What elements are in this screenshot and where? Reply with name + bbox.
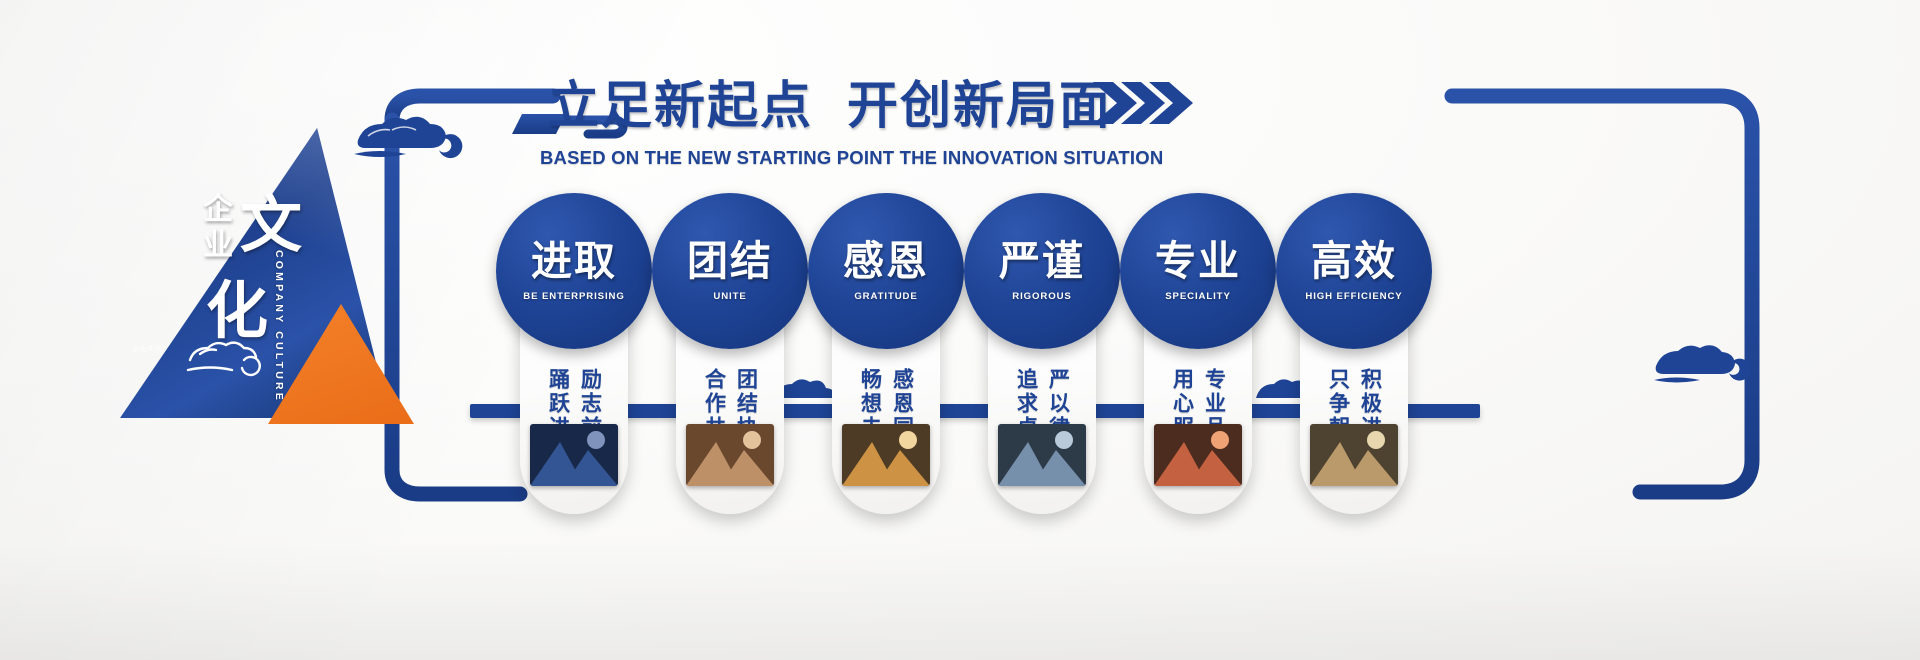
value-card-rigorous[interactable]: 严谨 RIGOROUS 严以律己 追求卓越 xyxy=(988,196,1096,514)
logo-char-wen: 文 xyxy=(240,174,302,264)
value-badge-english: RIGOROUS xyxy=(1012,291,1071,302)
value-badge-english: UNITE xyxy=(713,291,746,302)
value-badge[interactable]: 感恩 GRATITUDE xyxy=(808,193,964,349)
value-badge-english: SPECIALITY xyxy=(1165,291,1231,302)
value-badge-chinese: 感恩 xyxy=(843,241,929,282)
photo-sunset-silhouette xyxy=(842,424,930,486)
value-card-gratitude[interactable]: 感恩 GRATITUDE 感恩同行 畅想未来 xyxy=(832,196,940,514)
culture-wall-background: 立足新起点开创新局面 BASED ON THE NEW STARTING POI… xyxy=(0,0,1920,660)
logo-english-label: COMPANY CULTURE xyxy=(273,250,285,403)
photo-eagle xyxy=(998,424,1086,486)
logo-brand-mark: 企业文化 xyxy=(132,343,163,355)
logo-char-ye: 业 xyxy=(203,220,233,264)
photo-handshake xyxy=(686,424,774,486)
chinese-cloud-ornament-icon xyxy=(1648,338,1752,388)
photo-pen-and-ink xyxy=(530,424,618,486)
value-badge-english: BE ENTERPRISING xyxy=(523,291,624,302)
value-badge[interactable]: 进取 BE ENTERPRISING xyxy=(496,193,652,349)
value-card-speciality[interactable]: 专业 SPECIALITY 专业品质 用心服务 xyxy=(1144,196,1252,514)
page-title: 立足新起点开创新局面 xyxy=(548,64,1112,138)
page-title-part-1: 立足新起点 xyxy=(548,79,813,135)
page-title-part-2: 开创新局面 xyxy=(847,79,1112,135)
value-badge-chinese: 进取 xyxy=(531,241,617,282)
value-badge[interactable]: 专业 SPECIALITY xyxy=(1120,193,1276,349)
photo-pocket-watch xyxy=(1310,424,1398,486)
photo-runner-track xyxy=(1154,424,1242,486)
value-badge-chinese: 严谨 xyxy=(999,241,1085,282)
value-badge-english: HIGH EFFICIENCY xyxy=(1305,291,1402,302)
value-badge-chinese: 专业 xyxy=(1155,241,1241,282)
double-chevron-right-icon xyxy=(1093,80,1193,126)
value-badge[interactable]: 团结 UNITE xyxy=(652,193,808,349)
value-card-high-efficiency[interactable]: 高效 HIGH EFFICIENCY 积极进取 只争朝夕 xyxy=(1300,196,1408,514)
company-culture-logo: 企 业 文 化 COMPANY CULTURE 企业文化 xyxy=(120,128,420,428)
value-badge[interactable]: 严谨 RIGOROUS xyxy=(964,193,1120,349)
chinese-cloud-ornament-icon xyxy=(182,330,268,378)
value-badge[interactable]: 高效 HIGH EFFICIENCY xyxy=(1276,193,1432,349)
value-card-be-enterprising[interactable]: 进取 BE ENTERPRISING 励志前行 踊跃进取 xyxy=(520,196,628,514)
value-card-unite[interactable]: 团结 UNITE 团结协作 合作共赢 xyxy=(676,196,784,514)
value-badge-chinese: 高效 xyxy=(1311,241,1397,282)
page-subtitle: BASED ON THE NEW STARTING POINT THE INNO… xyxy=(540,147,1163,169)
value-badge-english: GRATITUDE xyxy=(854,291,917,302)
value-badge-chinese: 团结 xyxy=(687,241,773,282)
